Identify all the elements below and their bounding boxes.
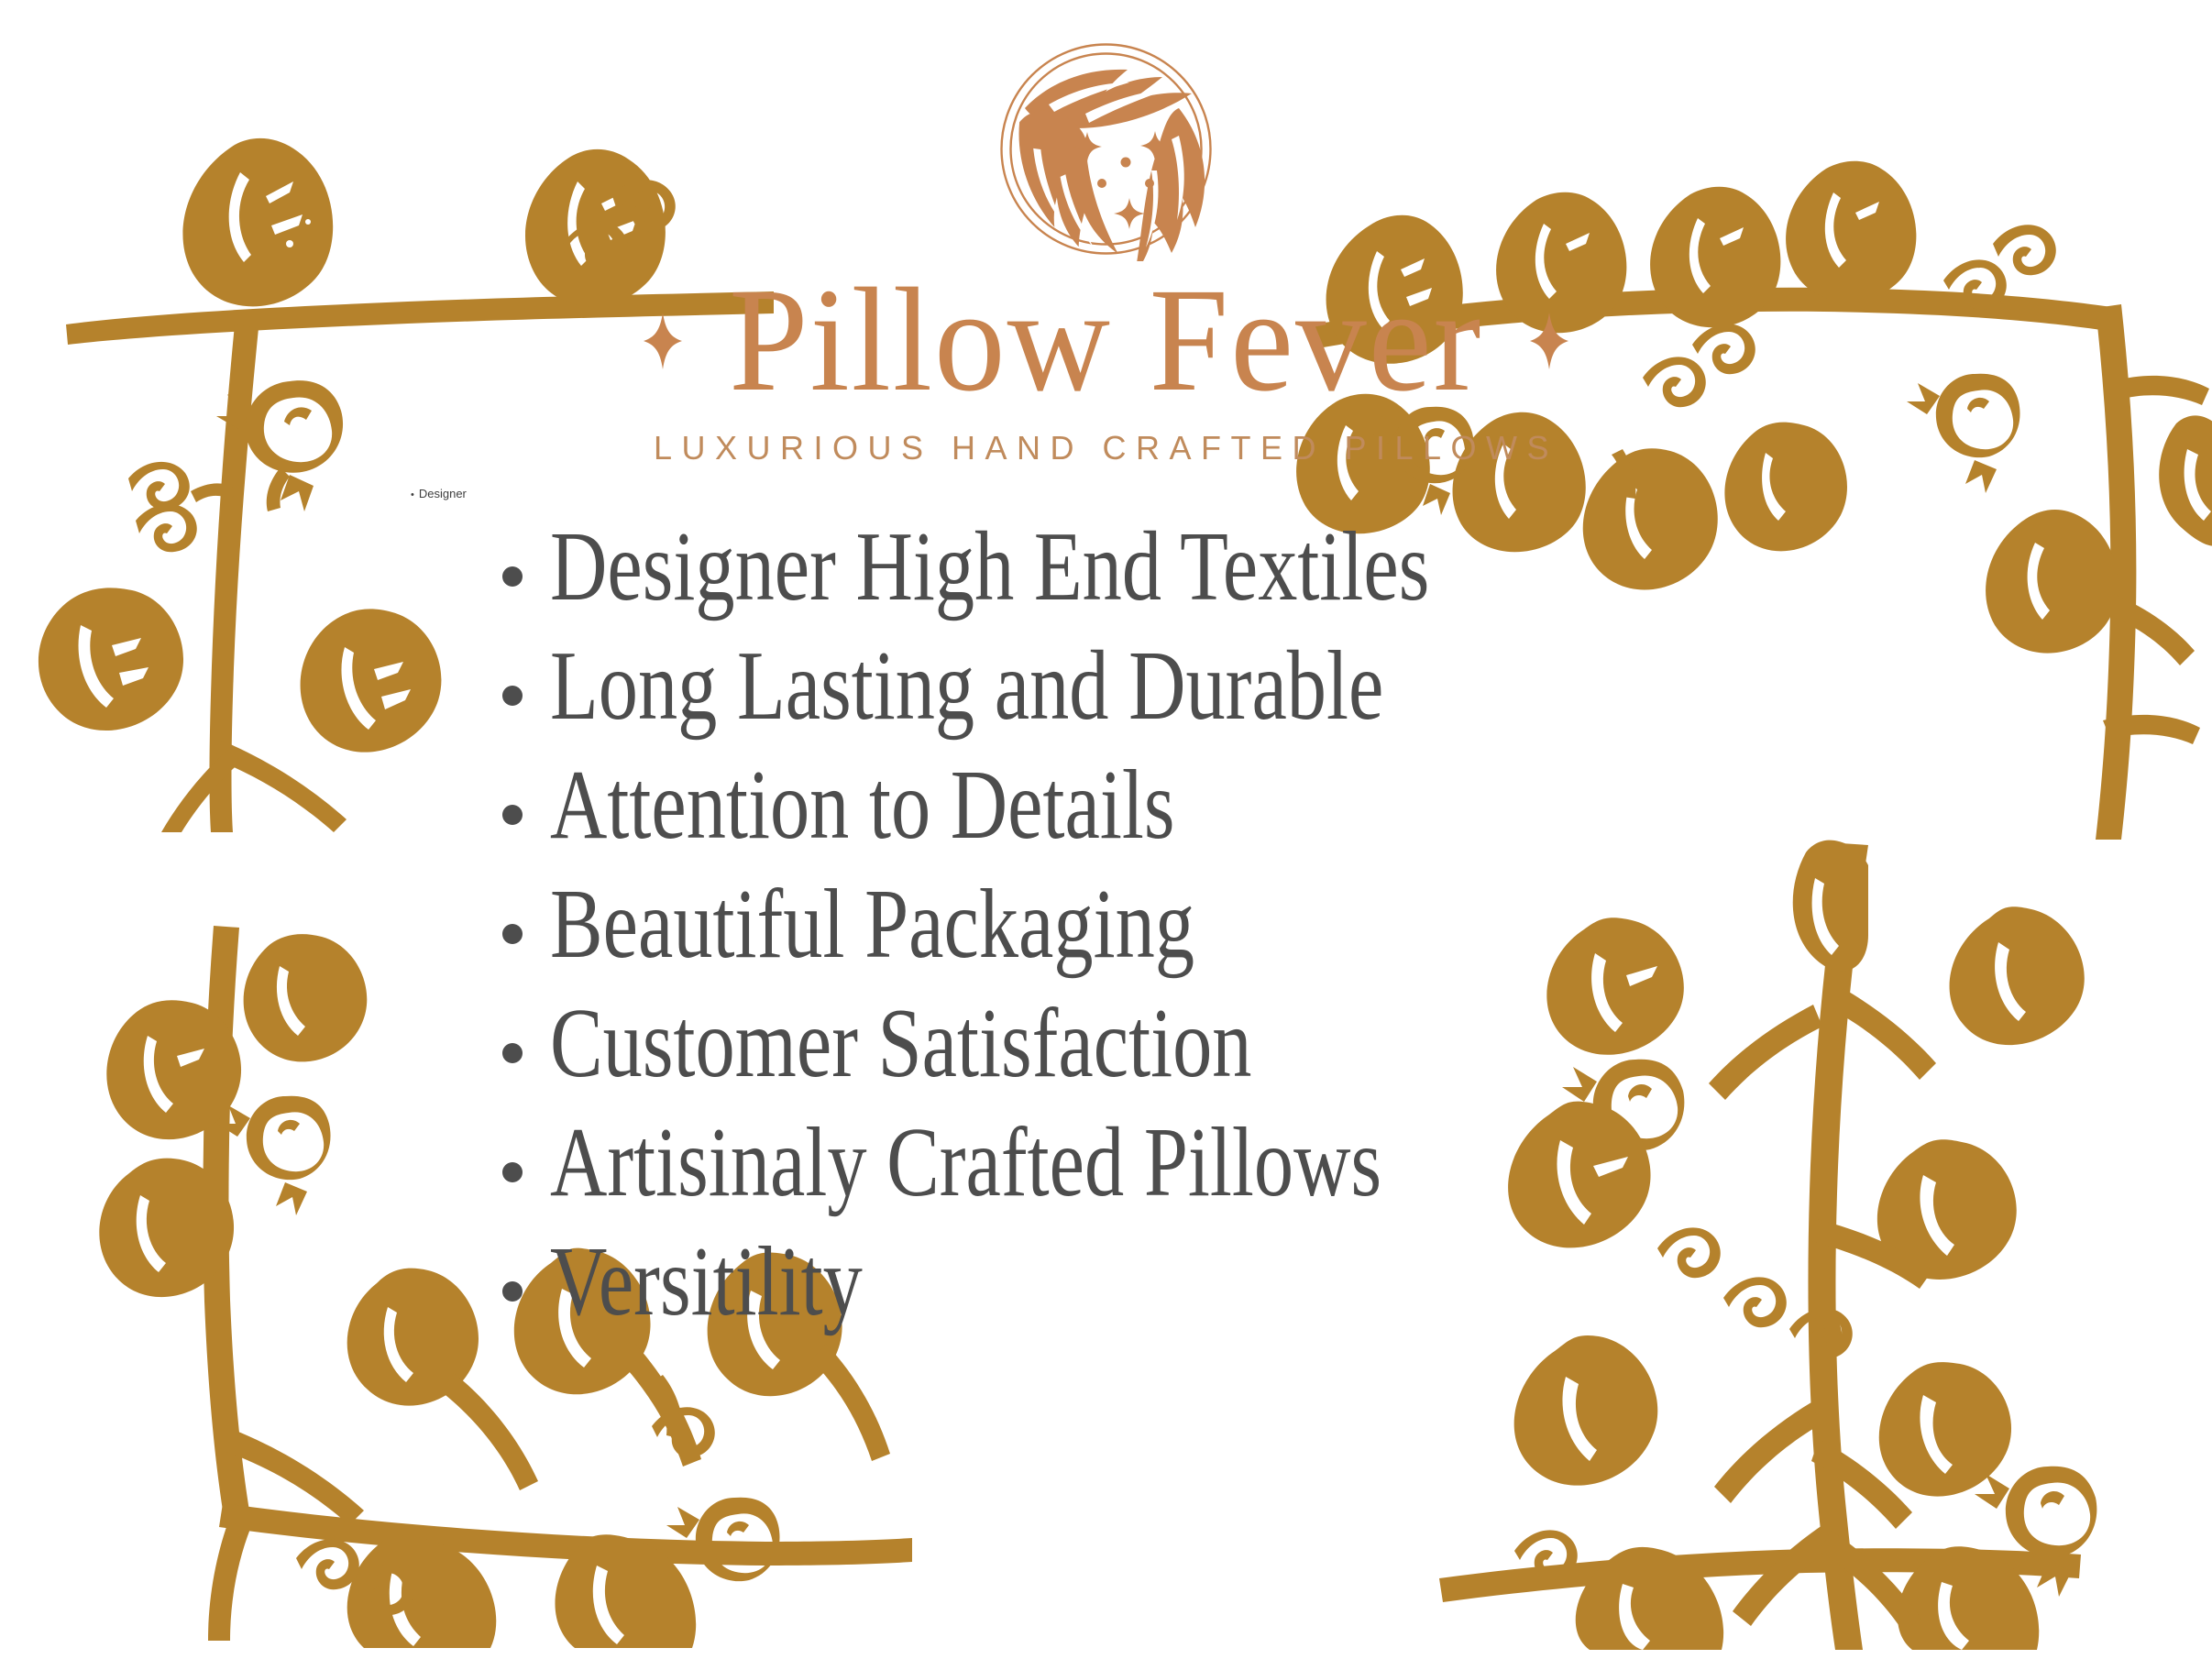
bullet-dot-icon bbox=[502, 1162, 523, 1182]
brand-name: Pillow Fever bbox=[729, 265, 1482, 416]
feature-label: Beautiful Packaging bbox=[550, 875, 1194, 974]
list-item: Beautiful Packaging bbox=[502, 875, 1786, 989]
bullet-dot-icon bbox=[502, 686, 523, 706]
artifact-text: Designer bbox=[419, 487, 467, 500]
bullet-dot-icon bbox=[502, 805, 523, 825]
feature-label: Designer High End Textiles bbox=[550, 518, 1429, 617]
list-item: Versitility bbox=[502, 1233, 1786, 1346]
artifact-bullet: • bbox=[411, 489, 414, 500]
feature-label: Artisinaly Crafted Pillows bbox=[550, 1114, 1381, 1213]
list-item: Designer High End Textiles bbox=[502, 518, 1786, 632]
logo-block: Pillow Fever LUXURIOUS HAND CRAFTED PILL… bbox=[0, 37, 2212, 467]
bullet-dot-icon bbox=[502, 566, 523, 587]
brand-tagline: LUXURIOUS HAND CRAFTED PILLOWS bbox=[654, 429, 1558, 467]
wordmark-row: Pillow Fever bbox=[644, 265, 1568, 416]
bullet-dot-icon bbox=[502, 1281, 523, 1302]
three-feathers-circle-emblem-icon bbox=[994, 37, 1218, 261]
bullet-dot-icon bbox=[502, 924, 523, 944]
poster-canvas: Pillow Fever LUXURIOUS HAND CRAFTED PILL… bbox=[0, 0, 2212, 1659]
artifact-designer-note: •Designer bbox=[411, 487, 467, 500]
list-item: Customer Satisfaction bbox=[502, 994, 1786, 1108]
sparkle-diamond-left-icon bbox=[644, 313, 682, 369]
bullet-dot-icon bbox=[502, 1043, 523, 1063]
list-item: Artisinaly Crafted Pillows bbox=[502, 1114, 1786, 1227]
sparkle-diamond-right-icon bbox=[1530, 313, 1568, 369]
list-item: Attention to Details bbox=[502, 756, 1786, 870]
feature-label: Versitility bbox=[550, 1233, 863, 1332]
feature-label: Attention to Details bbox=[550, 756, 1175, 855]
list-item: Long Lasting and Durable bbox=[502, 637, 1786, 751]
feature-list: Designer High End Textiles Long Lasting … bbox=[502, 518, 1786, 1352]
feature-label: Long Lasting and Durable bbox=[550, 637, 1383, 736]
feature-label: Customer Satisfaction bbox=[550, 994, 1252, 1093]
